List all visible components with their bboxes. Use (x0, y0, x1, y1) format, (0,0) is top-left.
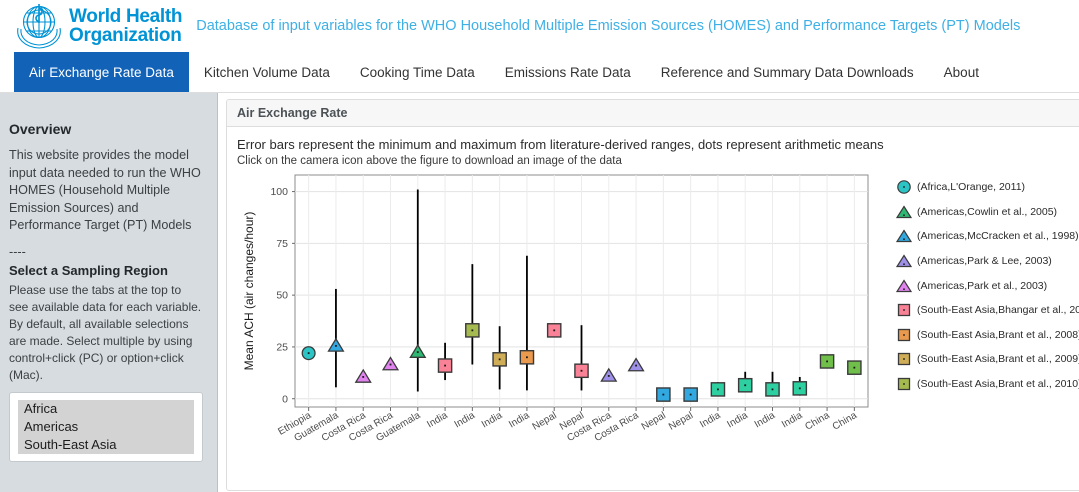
data-point-center (471, 329, 473, 331)
legend-marker-square-icon (891, 349, 917, 369)
tab-cooking-time-data[interactable]: Cooking Time Data (345, 52, 490, 92)
region-option-south-east-asia[interactable]: South-East Asia (18, 436, 194, 454)
data-point-center (390, 364, 392, 366)
legend-label: (South-East Asia,Bhangar et al., 2006) (917, 304, 1079, 316)
x-axis-tick-label: India (453, 410, 478, 431)
legend-marker-square-icon (891, 300, 917, 320)
legend-label: (South-East Asia,Brant et al., 2010) (917, 378, 1079, 390)
wordmark-line-1: World Health (69, 7, 182, 26)
legend-item[interactable]: (South-East Asia,Brant et al., 2008) (891, 323, 1077, 348)
main-navigation: Air Exchange Rate Data Kitchen Volume Da… (0, 52, 1079, 93)
region-select-listbox[interactable]: Africa Americas South-East Asia (9, 392, 203, 462)
tab-emissions-rate-data[interactable]: Emissions Rate Data (490, 52, 646, 92)
region-option-africa[interactable]: Africa (18, 400, 194, 418)
main-panel: Air Exchange Rate Error bars represent t… (218, 93, 1079, 492)
legend-label: (Africa,L'Orange, 2011) (917, 181, 1025, 193)
x-axis-tick-label: India (725, 410, 750, 431)
data-point-center (608, 375, 610, 377)
data-point-center (853, 367, 855, 369)
x-axis-tick-label: Nepal (667, 410, 695, 433)
who-logo[interactable]: World Health Organization (12, 2, 182, 50)
data-point-center (772, 388, 774, 390)
legend-label: (Americas,Park & Lee, 2003) (917, 255, 1052, 267)
app-header: World Health Organization Database of in… (0, 0, 1079, 52)
legend-marker-triangle-icon (891, 226, 917, 246)
data-point-center (581, 370, 583, 372)
sidebar-divider: ---- (9, 245, 203, 259)
chart-container[interactable]: 0255075100Mean ACH (air changes/hour)Eth… (237, 171, 1077, 471)
legend-item[interactable]: (Americas,Park & Lee, 2003) (891, 249, 1077, 274)
legend-label: (Americas,Cowlin et al., 2005) (917, 206, 1057, 218)
legend-item[interactable]: (South-East Asia,Brant et al., 2010) (891, 372, 1077, 397)
x-axis-tick-label: India (753, 410, 778, 431)
select-region-heading: Select a Sampling Region (9, 263, 203, 278)
chart-description-sub: Click on the camera icon above the figur… (237, 155, 1077, 167)
sidebar: Overview This website provides the model… (0, 93, 218, 492)
legend-item[interactable]: (Americas,Cowlin et al., 2005) (891, 200, 1077, 225)
who-wordmark: World Health Organization (69, 7, 182, 45)
y-axis-tick-label: 75 (276, 238, 288, 250)
data-point-center (362, 376, 364, 378)
legend-label: (Americas,McCracken et al., 1998) (917, 230, 1079, 242)
y-axis-title: Mean ACH (air changes/hour) (242, 212, 256, 371)
legend-marker-circle-icon (891, 177, 917, 197)
data-point-center (444, 365, 446, 367)
legend-item[interactable]: (South-East Asia,Brant et al., 2009) (891, 347, 1077, 372)
data-point-center (635, 365, 637, 367)
site-title: Database of input variables for the WHO … (196, 18, 1020, 34)
data-point-center (690, 394, 692, 396)
chart-legend: (Africa,L'Orange, 2011) (Americas,Cowlin… (891, 175, 1077, 396)
air-exchange-rate-panel: Air Exchange Rate Error bars represent t… (226, 99, 1079, 491)
who-emblem-icon (12, 2, 66, 50)
data-point-center (308, 352, 310, 354)
legend-label: (South-East Asia,Brant et al., 2009) (917, 353, 1079, 365)
legend-item[interactable]: (Americas,McCracken et al., 1998) (891, 224, 1077, 249)
content-area: Overview This website provides the model… (0, 93, 1079, 492)
wordmark-line-2: Organization (69, 26, 182, 45)
overview-text: This website provides the model input da… (9, 147, 203, 235)
x-axis-tick-label: India (780, 410, 805, 431)
panel-title: Air Exchange Rate (227, 100, 1079, 127)
y-axis-tick-label: 100 (270, 186, 288, 198)
tab-about[interactable]: About (929, 52, 994, 92)
tab-air-exchange-rate-data[interactable]: Air Exchange Rate Data (14, 52, 189, 92)
panel-body: Error bars represent the minimum and max… (227, 127, 1079, 471)
legend-marker-triangle-icon (891, 202, 917, 222)
y-axis-tick-label: 50 (276, 290, 288, 302)
x-axis-tick-label: Nepal (531, 410, 559, 433)
x-axis-tick-label: India (507, 410, 532, 431)
legend-item[interactable]: (Americas,Park et al., 2003) (891, 273, 1077, 298)
legend-label: (Americas,Park et al., 2003) (917, 280, 1047, 292)
data-point-center (553, 329, 555, 331)
legend-marker-square-icon (891, 325, 917, 345)
tab-reference-and-summary-data-downloads[interactable]: Reference and Summary Data Downloads (646, 52, 929, 92)
y-axis-tick-label: 25 (276, 342, 288, 354)
overview-heading: Overview (9, 121, 203, 137)
y-axis-tick-label: 0 (282, 393, 288, 405)
x-axis-tick-label: Nepal (640, 410, 668, 433)
data-point-center (717, 388, 719, 390)
legend-marker-triangle-icon (891, 276, 917, 296)
select-region-hint: Please use the tabs at the top to see av… (9, 282, 203, 384)
legend-item[interactable]: (Africa,L'Orange, 2011) (891, 175, 1077, 200)
legend-label: (South-East Asia,Brant et al., 2008) (917, 329, 1079, 341)
tab-kitchen-volume-data[interactable]: Kitchen Volume Data (189, 52, 345, 92)
x-axis-tick-label: India (480, 410, 505, 431)
data-point-center (744, 384, 746, 386)
region-option-americas[interactable]: Americas (18, 418, 194, 436)
legend-marker-triangle-icon (891, 251, 917, 271)
chart-description-main: Error bars represent the minimum and max… (237, 137, 1077, 152)
data-point-center (526, 356, 528, 358)
x-axis-tick-label: India (698, 410, 723, 431)
legend-item[interactable]: (South-East Asia,Bhangar et al., 2006) (891, 298, 1077, 323)
data-point-center (799, 387, 801, 389)
data-point-center (417, 351, 419, 353)
data-point-center (662, 394, 664, 396)
legend-marker-square-icon (891, 374, 917, 394)
x-axis-tick-label: China (831, 410, 860, 433)
x-axis-tick-label: China (803, 410, 832, 433)
data-point-center (499, 358, 501, 360)
data-point-center (826, 361, 828, 363)
data-point-center (335, 345, 337, 347)
x-axis-tick-label: India (425, 410, 450, 431)
